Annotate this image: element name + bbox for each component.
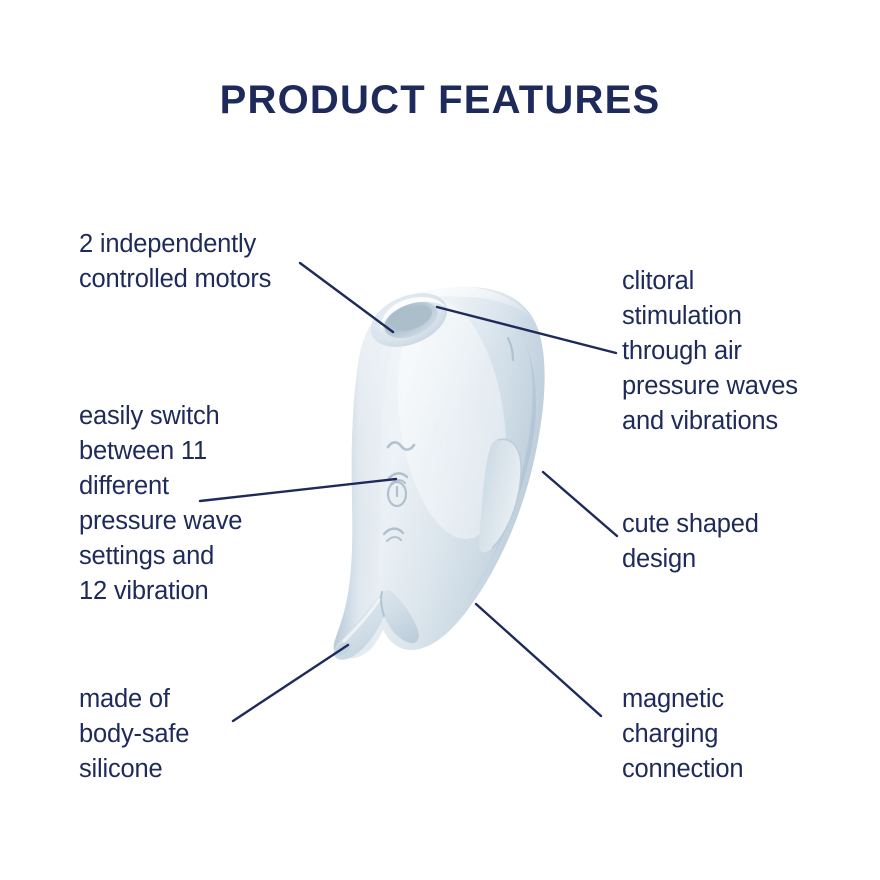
leader-line-motors [300, 263, 393, 332]
callout-magnetic-charging: magnetic charging connection [622, 682, 743, 787]
leader-line-cute [543, 472, 617, 536]
leader-line-magnetic [476, 604, 601, 716]
leader-line-silicone [233, 645, 348, 721]
callout-clitoral-stimulation: clitoral stimulation through air pressur… [622, 264, 798, 439]
product-features-infographic: PRODUCT FEATURES [0, 0, 880, 880]
product-body-group [333, 283, 545, 660]
callout-silicone: made of body-safe silicone [79, 682, 189, 787]
callout-cute-shaped-design: cute shaped design [622, 507, 759, 577]
callout-motors: 2 independently controlled motors [79, 227, 271, 297]
callout-settings: easily switch between 11 different press… [79, 399, 242, 609]
